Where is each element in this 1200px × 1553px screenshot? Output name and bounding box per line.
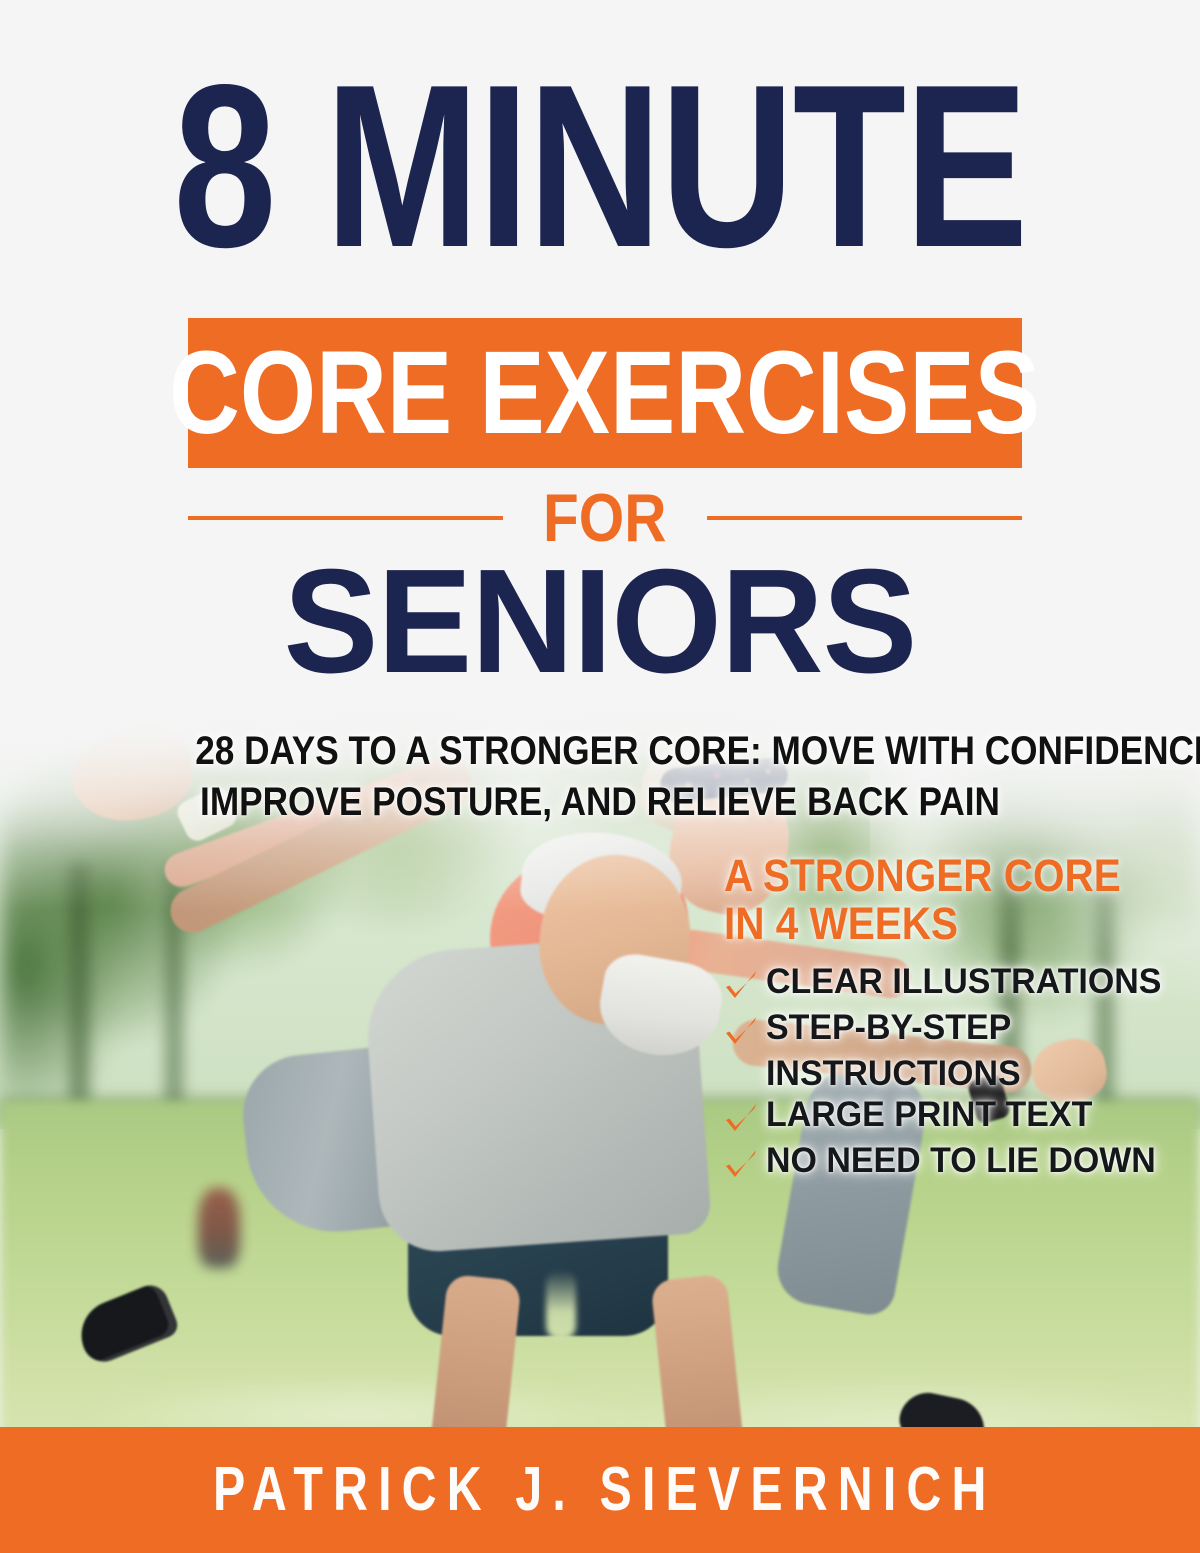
man-shorts-gap: [546, 1270, 576, 1340]
subtitle-line-1: 28 DAYS TO A STRONGER CORE: MOVE WITH CO…: [195, 726, 1005, 777]
cover-subtitle: 28 DAYS TO A STRONGER CORE: MOVE WITH CO…: [195, 726, 1005, 828]
promo-headline-line-1: A STRONGER CORE: [724, 852, 1084, 900]
book-cover: 8 MINUTE CORE EXERCISES FOR SENIORS 28 D…: [0, 0, 1200, 1553]
bullet-label: LARGE PRINT TEXT: [766, 1096, 1092, 1135]
title-line-seniors: SENIORS: [24, 548, 1176, 696]
list-item: STEP-BY-STEP: [724, 1009, 1124, 1053]
core-exercises-band: CORE EXERCISES: [188, 318, 1022, 468]
bullet-label-continuation: INSTRUCTIONS: [766, 1055, 1113, 1094]
title-line-8-minute: 8 MINUTE: [120, 56, 1080, 279]
author-name: PATRICK J. SIEVERNICH: [203, 1459, 997, 1521]
promo-headline: A STRONGER CORE IN 4 WEEKS: [724, 852, 1084, 947]
checkmark-icon: [724, 969, 758, 1007]
checkmark-icon: [724, 1102, 758, 1140]
author-band: PATRICK J. SIEVERNICH: [0, 1427, 1200, 1553]
bullet-label: NO NEED TO LIE DOWN: [766, 1142, 1156, 1181]
man-leg-right: [650, 1274, 745, 1440]
list-item: CLEAR ILLUSTRATIONS: [724, 963, 1124, 1007]
list-item: NO NEED TO LIE DOWN: [724, 1142, 1124, 1186]
bullet-label: STEP-BY-STEP: [766, 1009, 1011, 1048]
bullet-label: CLEAR ILLUSTRATIONS: [766, 963, 1161, 1002]
feature-bullet-list: CLEAR ILLUSTRATIONS STEP-BY-STEP INSTRUC…: [724, 963, 1124, 1186]
for-rule-left: [188, 516, 503, 520]
list-item: LARGE PRINT TEXT: [724, 1096, 1124, 1140]
woman-shoe-left: [71, 1280, 181, 1368]
checkmark-icon: [724, 1015, 758, 1053]
checkmark-icon: [724, 1148, 758, 1186]
promo-headline-line-2: IN 4 WEEKS: [724, 900, 1084, 948]
subtitle-line-2: IMPROVE POSTURE, AND RELIEVE BACK PAIN: [195, 777, 1005, 828]
for-rule-right: [707, 516, 1022, 520]
title-line-core-exercises: CORE EXERCISES: [170, 334, 1041, 452]
promo-block: A STRONGER CORE IN 4 WEEKS CLEAR ILLUSTR…: [724, 852, 1124, 1188]
